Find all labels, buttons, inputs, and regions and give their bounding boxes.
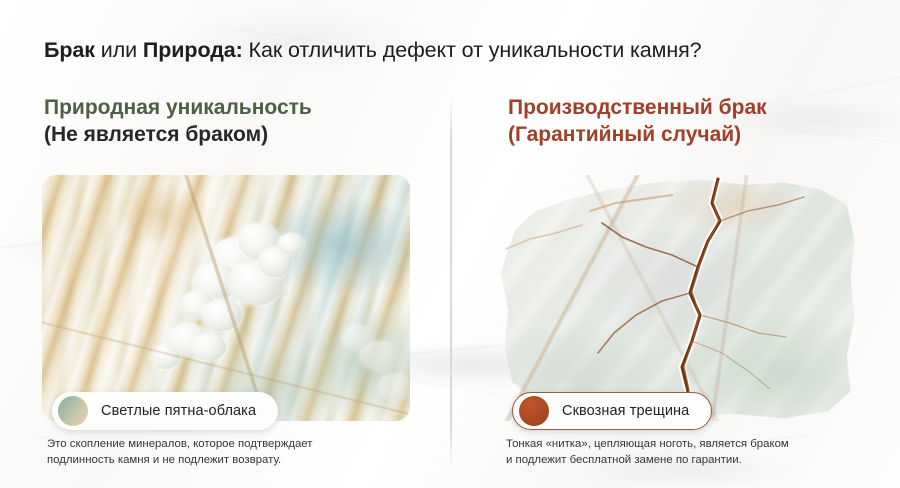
heading-line-secondary: (Не является браком) bbox=[44, 121, 424, 148]
caption-line-1: Это скопление минералов, которое подтвер… bbox=[47, 437, 312, 453]
badge-defect[interactable]: Сквозная трещина bbox=[512, 392, 712, 430]
through-crack-icon bbox=[486, 175, 858, 421]
vertical-divider bbox=[450, 95, 452, 470]
title-bold-brak: Брак bbox=[44, 38, 95, 62]
column-defect: Производственный брак (Гарантийный случа… bbox=[508, 94, 888, 148]
title-plain-ili: или bbox=[95, 38, 143, 62]
caption-defect: Тонкая «нитка», цепляющая ноготь, являет… bbox=[506, 437, 789, 468]
title-bold-priroda: Природа: bbox=[143, 38, 243, 62]
caption-line-1: Тонкая «нитка», цепляющая ноготь, являет… bbox=[506, 437, 789, 453]
caption-line-2: подлинность камня и не подлежит возврату… bbox=[47, 453, 312, 469]
page-title: Брак или Природа: Как отличить дефект от… bbox=[44, 36, 874, 64]
column-defect-heading: Производственный брак (Гарантийный случа… bbox=[508, 94, 888, 148]
heading-line-secondary: (Гарантийный случай) bbox=[508, 121, 888, 148]
column-natural-heading: Природная уникальность (Не является брак… bbox=[44, 94, 424, 148]
stone-image-natural bbox=[42, 175, 410, 421]
color-swatch-icon bbox=[58, 396, 88, 426]
heading-line-primary: Производственный брак bbox=[508, 94, 888, 121]
badge-natural-label: Светлые пятна-облака bbox=[101, 403, 256, 419]
title-plain-question: Как отличить дефект от уникальности камн… bbox=[243, 38, 702, 62]
caption-line-2: и подлежит бесплатной замене по гарантии… bbox=[506, 453, 789, 469]
badge-natural[interactable]: Светлые пятна-облака bbox=[52, 392, 278, 430]
badge-defect-label: Сквозная трещина bbox=[562, 403, 689, 419]
caption-natural: Это скопление минералов, которое подтвер… bbox=[47, 437, 312, 468]
heading-line-primary: Природная уникальность bbox=[44, 94, 424, 121]
column-natural: Природная уникальность (Не является брак… bbox=[44, 94, 424, 148]
stone-image-defect bbox=[486, 175, 858, 421]
color-swatch-icon bbox=[519, 396, 549, 426]
